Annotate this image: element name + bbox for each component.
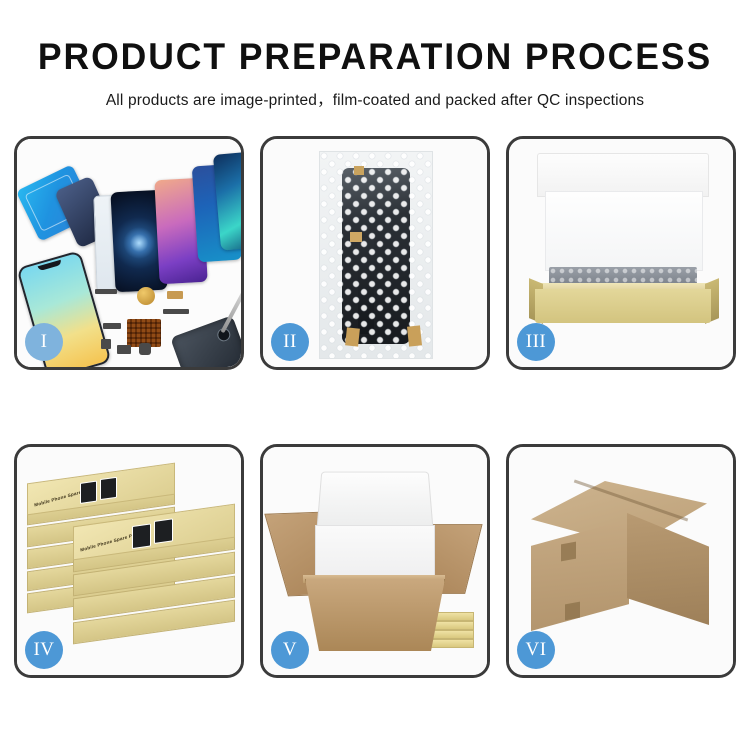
page-subtitle: All products are image-printed，film-coat… <box>0 88 750 110</box>
box-window <box>132 523 151 549</box>
carton-body <box>305 579 445 651</box>
tape-mark-c <box>345 327 360 346</box>
wallpaper-burst <box>121 225 157 261</box>
process-step-grid: I II <box>14 136 736 678</box>
tape-patch-upper <box>561 542 576 562</box>
box-window <box>100 477 117 500</box>
box-front <box>535 289 711 323</box>
motor-part <box>139 343 151 355</box>
step-badge-5: V <box>271 631 309 669</box>
button-part <box>117 345 131 354</box>
step-badge-4: IV <box>25 631 63 669</box>
connector-part <box>103 323 121 329</box>
header: PRODUCT PREPARATION PROCESS All products… <box>0 0 750 110</box>
foam-lid <box>317 472 434 529</box>
process-step-4: Mobile Phone Spare Parts Mobile Phone Sp… <box>14 444 244 678</box>
page-title: PRODUCT PREPARATION PROCESS <box>15 38 735 75</box>
camera-part <box>101 339 111 349</box>
step-badge-2: II <box>271 323 309 361</box>
step-badge-3: III <box>517 323 555 361</box>
step-badge-1: I <box>25 323 63 361</box>
process-step-2: II <box>260 136 490 370</box>
tape-mark-b <box>350 232 362 242</box>
carton-side <box>627 513 709 625</box>
process-step-1: I <box>14 136 244 370</box>
process-step-6: VI <box>506 444 736 678</box>
carton-front <box>531 519 629 631</box>
process-step-3: III <box>506 136 736 370</box>
bubble-bag <box>319 151 433 359</box>
notch <box>37 260 62 272</box>
box-window <box>154 518 173 544</box>
tape-mark-d <box>407 325 422 346</box>
antenna-part <box>163 309 189 314</box>
screw-set-part <box>167 291 183 299</box>
speaker-part <box>137 287 155 305</box>
tape-mark-a <box>354 166 364 175</box>
foam-liner <box>545 191 703 271</box>
flex-cable-part <box>95 289 117 294</box>
box-window <box>80 481 97 504</box>
process-step-5: V <box>260 444 490 678</box>
step-badge-6: VI <box>517 631 555 669</box>
box-stack: Mobile Phone Spare Parts Mobile Phone Sp… <box>21 465 237 661</box>
tape-patch-lower <box>565 602 580 621</box>
product-preparation-infographic: PRODUCT PREPARATION PROCESS All products… <box>0 0 750 750</box>
